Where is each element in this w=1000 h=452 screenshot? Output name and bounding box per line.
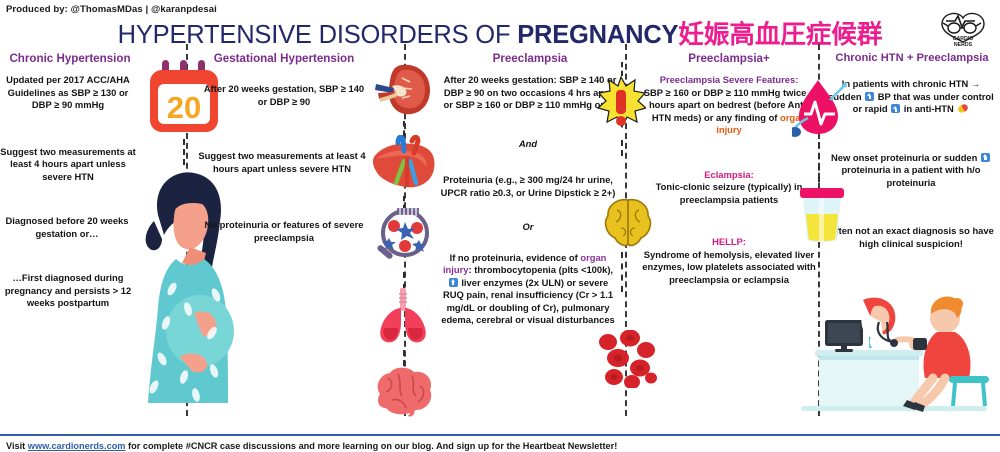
- column-chronic-hypertension: Chronic Hypertension Updated per 2017 AC…: [0, 52, 140, 310]
- page-title-japanese: 妊娠高血圧症候群: [678, 21, 882, 49]
- clinic-bp-check-illustration: [797, 292, 997, 423]
- column-heading-preeclampsia: Preeclampsia: [440, 52, 620, 65]
- chp-prot-part1: New onset proteinuria or sudden: [831, 152, 980, 163]
- connector-dash-col1: [183, 139, 185, 165]
- column-heading-gestational-hypertension: Gestational Hypertension: [196, 52, 372, 65]
- platelet-magnifier-icon: [372, 208, 436, 273]
- connector-dash-col3-b: [621, 140, 623, 156]
- connector-dash-col3-a: [621, 62, 623, 76]
- footer-tail: for complete #CNCR case discussions and …: [125, 441, 617, 451]
- pep-hellp-text: Syndrome of hemolysis, elevated liver en…: [642, 249, 816, 285]
- column-heading-preeclampsia-plus: Preeclampsia+: [640, 52, 818, 65]
- pep-severe-subheading: Preeclampsia Severe Features:: [660, 74, 799, 85]
- column-chronic-htn-plus-preeclampsia: Chronic HTN + Preeclampsia In patients w…: [828, 52, 996, 250]
- pep-hellp-subheading: HELLP:: [712, 236, 746, 247]
- block-chp-suspicion: Often not an exact diagnosis so have hig…: [828, 225, 994, 250]
- connector-dash-col2-a: [403, 121, 405, 136]
- cardionerds-link[interactable]: www.cardionerds.com: [28, 441, 126, 451]
- block-pep-eclampsia: Eclampsia: Tonic-clonic seizure (typical…: [640, 169, 818, 207]
- logo-text-line2: NERDS: [954, 42, 973, 48]
- block-chp-bp: In patients with chronic HTN → sudden BP…: [828, 78, 994, 116]
- block-pe-proteinuria: Proteinuria (e.g., ≥ 300 mg/24 hr urine,…: [440, 174, 616, 199]
- infographic-canvas: Produced by: @ThomasMDas | @karanpdesai …: [0, 0, 1000, 452]
- kidney-icon: [372, 62, 434, 123]
- pep-eclampsia-subheading: Eclampsia:: [704, 169, 754, 180]
- footer-text: Visit www.cardionerds.com for complete #…: [6, 441, 617, 451]
- chp-prot-part2: proteinuria in a patient with h/o protei…: [841, 164, 980, 188]
- pe-organ-tail-1: : thrombocytopenia (plts <100k),: [468, 264, 613, 275]
- connector-dash-col5: [818, 142, 820, 182]
- column-heading-chronic-hypertension: Chronic Hypertension: [0, 52, 140, 65]
- block-ch-criteria: Updated per 2017 ACC/AHA Guidelines as S…: [2, 74, 134, 112]
- pep-eclampsia-text: Tonic-clonic seizure (typically) in pree…: [656, 181, 803, 205]
- block-gh-criteria: After 20 weeks gestation, SBP ≥ 140 or D…: [200, 83, 368, 108]
- seizure-brain-icon: [601, 198, 655, 255]
- page-title-strong: PREGNANCY: [517, 21, 678, 49]
- column-gestational-hypertension: Gestational Hypertension After 20 weeks …: [196, 52, 372, 244]
- block-pe-organ-injury: If no proteinuria, evidence of organ inj…: [440, 252, 616, 327]
- footer-lead: Visit: [6, 441, 28, 451]
- block-pep-hellp: HELLP: Syndrome of hemolysis, elevated l…: [640, 236, 818, 286]
- footer-divider: [0, 434, 1000, 436]
- column-preeclampsia: Preeclampsia After 20 weeks gestation: S…: [440, 52, 620, 327]
- connector-dash-col4: [621, 252, 623, 292]
- brain-icon: [370, 364, 438, 425]
- block-ch-timing: Diagnosed before 20 weeks gestation or…: [0, 215, 134, 240]
- page-title: HYPERTENSIVE DISORDERS OF PREGNANCY妊娠高血圧…: [0, 14, 1000, 51]
- cardionerds-logo: CARDIO NERDS: [932, 4, 994, 48]
- block-pe-or: Or: [440, 221, 616, 234]
- arrow-up-icon: [891, 104, 900, 113]
- red-blood-cells-icon: [596, 330, 658, 393]
- pe-organ-tail-2: liver enzymes (2x ULN) or severe RUQ pai…: [441, 277, 615, 326]
- chp-bp-part3: in anti-HTN: [901, 103, 956, 114]
- warning-burst-icon: [596, 76, 646, 143]
- page-title-main: HYPERTENSIVE DISORDERS OF: [118, 21, 518, 49]
- block-pe-bp: After 20 weeks gestation: SBP ≥ 140 or D…: [442, 74, 618, 112]
- lungs-icon: [372, 288, 436, 351]
- block-gh-noproteinuria: No proteinuria or features of severe pre…: [200, 219, 368, 244]
- block-chp-proteinuria: New onset proteinuria or sudden proteinu…: [828, 152, 994, 190]
- block-gh-measure: Suggest two measurements at least 4 hour…: [196, 150, 368, 175]
- block-ch-measure: Suggest two measurements at least 4 hour…: [0, 146, 136, 184]
- pe-organ-lead: If no proteinuria, evidence of: [450, 252, 581, 263]
- arrow-up-icon: [449, 278, 458, 287]
- arrow-up-icon: [865, 92, 874, 101]
- urine-cup-icon: [797, 186, 847, 247]
- block-ch-postpartum: …First diagnosed during pregnancy and pe…: [0, 272, 136, 310]
- arrow-up-icon: [981, 153, 990, 162]
- blood-drop-bp-icon: [792, 78, 848, 145]
- pill-icon: [958, 105, 969, 113]
- column-heading-chronic-htn-plus-preeclampsia: Chronic HTN + Preeclampsia: [828, 52, 996, 64]
- liver-icon: [368, 135, 438, 198]
- block-pe-and: And: [440, 138, 616, 151]
